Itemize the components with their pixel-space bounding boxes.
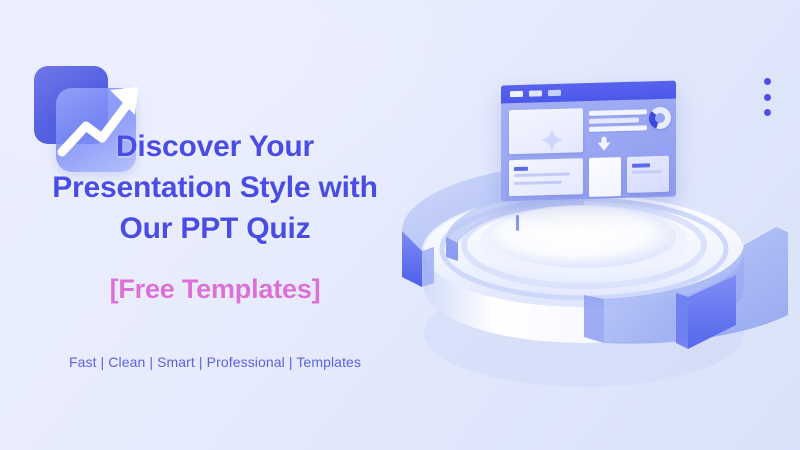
text-line-1 (589, 109, 647, 116)
slide-canvas: Discover Your Presentation Style with Ou… (0, 0, 800, 450)
hero-illustration (388, 55, 788, 405)
content-card-right (627, 156, 669, 193)
content-card-middle (589, 157, 621, 197)
donut-chart (649, 107, 671, 130)
card-right-accent-bar (632, 163, 650, 168)
slide-preview-window (501, 81, 676, 202)
title-bar-button-2 (529, 90, 542, 96)
window-body (501, 99, 676, 202)
headline-line-3: Our PPT Quiz (0, 208, 430, 249)
hero-card (509, 108, 583, 154)
text-line-3 (589, 125, 647, 132)
feature-tagline: Fast | Clean | Smart | Professional | Te… (0, 352, 430, 372)
text-content-column: Discover Your Presentation Style with Ou… (0, 0, 430, 450)
title-bar-button-1 (510, 91, 523, 97)
platform-center-disc (492, 206, 676, 268)
free-templates-tag: [Free Templates] (0, 272, 430, 306)
page-title: Discover Your Presentation Style with Ou… (0, 126, 430, 249)
title-bar-button-3 (548, 90, 561, 96)
card-left-accent-bar (514, 167, 528, 171)
headline-line-2: Presentation Style with (0, 167, 430, 208)
content-card-left (509, 158, 583, 196)
sparkle-icon (539, 127, 565, 154)
download-arrow-icon (595, 136, 613, 153)
headline-line-1: Discover Your (0, 126, 430, 167)
text-line-2 (589, 118, 639, 124)
